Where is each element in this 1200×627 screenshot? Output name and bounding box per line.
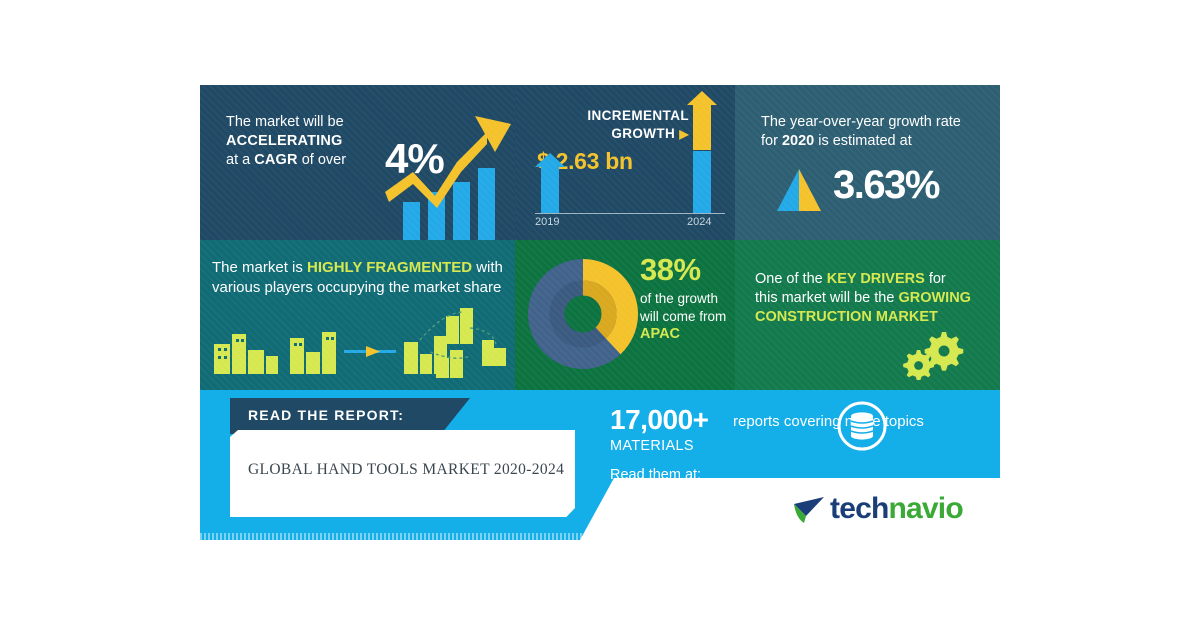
technavio-logo: technavio (792, 492, 963, 526)
materials-label: MATERIALS (610, 438, 694, 454)
cagr-line2-post: of over (298, 152, 346, 168)
bar-chart-up-arrow-icon (375, 110, 515, 240)
gears-icon (902, 328, 964, 380)
technavio-logo-panel: technavio (580, 478, 1000, 540)
frag-line-pre: The market is (212, 259, 307, 276)
incremental-growth-panel: INCREMENTAL GROWTH ▶ $ 2.63 bn 2019 2024 (515, 85, 735, 240)
ig-title-line2: GROWTH (611, 126, 675, 141)
report-title: GLOBAL HAND TOOLS MARKET 2020-2024 (248, 461, 568, 479)
apac-sub-line2: will come from (640, 309, 726, 324)
reports-count: 17,000+ (610, 404, 709, 436)
drv-highlight-3: CONSTRUCTION MARKET (755, 309, 938, 325)
yoy-growth-panel: The year-over-year growth rate for 2020 … (735, 85, 1000, 240)
incremental-growth-title: INCREMENTAL GROWTH ▶ (537, 107, 689, 143)
read-the-report-label: READ THE REPORT: (248, 407, 404, 423)
key-drivers-description: One of the KEY DRIVERS for this market w… (755, 270, 987, 327)
frag-line-post: with (472, 259, 503, 276)
yoy-line2-pre: for (761, 133, 782, 149)
city-buildings-spread-icon (208, 306, 508, 378)
yoy-description: The year-over-year growth rate for 2020 … (761, 113, 976, 151)
drv-line1-post: for (925, 271, 946, 287)
apac-sub-line1: of the growth (640, 291, 718, 306)
cagr-line1-bold: ACCELERATING (226, 133, 343, 149)
incremental-growth-axis (535, 213, 725, 214)
footer-dotted-edge (200, 533, 1000, 540)
axis-label-2019: 2019 (535, 216, 559, 228)
cagr-line2-pre: at a (226, 152, 254, 168)
reports-count-suffix: reports covering niche topics (733, 413, 924, 430)
read-the-report-tab: READ THE REPORT: (230, 398, 470, 434)
database-badge-icon (836, 400, 888, 452)
key-drivers-panel: One of the KEY DRIVERS for this market w… (735, 240, 1000, 390)
cagr-line2-bold: CAGR (254, 152, 298, 168)
apac-subtext: of the growth will come from (640, 290, 732, 325)
yoy-line1: The year-over-year growth rate (761, 114, 961, 130)
drv-line2-pre: this market will be the (755, 290, 898, 306)
drv-line1-pre: One of the (755, 271, 827, 287)
frag-line2: various players occupying the market sha… (212, 279, 501, 296)
fragmentation-description: The market is HIGHLY FRAGMENTED with var… (212, 258, 507, 298)
apac-percent: 38% (640, 252, 732, 288)
yoy-line2-bold: 2020 (782, 133, 814, 149)
logo-text-part2: navio (889, 492, 963, 525)
apac-share-panel: 38% of the growth will come from APAC (515, 240, 735, 390)
infographic-root: The market will be ACCELERATING at a CAG… (200, 85, 1000, 540)
paper-plane-icon (792, 494, 826, 524)
ig-title-line1: INCREMENTAL (587, 108, 689, 123)
cagr-panel: The market will be ACCELERATING at a CAG… (200, 85, 515, 240)
apac-region-label: APAC (640, 326, 732, 342)
report-title-card[interactable]: GLOBAL HAND TOOLS MARKET 2020-2024 (230, 430, 575, 517)
bar-2024 (687, 91, 717, 213)
drv-highlight-1: KEY DRIVERS (827, 271, 925, 287)
triangle-up-icon (777, 169, 821, 211)
apac-donut-chart (523, 254, 643, 374)
cagr-line1-pre: The market will be (226, 114, 344, 130)
technavio-logo-text: technavio (830, 492, 963, 526)
fragmentation-panel: The market is HIGHLY FRAGMENTED with var… (200, 240, 515, 390)
apac-share-text: 38% of the growth will come from APAC (640, 252, 732, 342)
yoy-value: 3.63% (833, 163, 939, 208)
logo-text-part1: tech (830, 492, 889, 525)
bar-2019 (535, 153, 565, 213)
axis-label-2024: 2024 (687, 216, 711, 228)
yoy-line2-post: is estimated at (814, 133, 912, 149)
drv-highlight-2: GROWING (898, 290, 971, 306)
footer-panel: READ THE REPORT: GLOBAL HAND TOOLS MARKE… (200, 390, 1000, 540)
frag-highlight: HIGHLY FRAGMENTED (307, 259, 472, 276)
